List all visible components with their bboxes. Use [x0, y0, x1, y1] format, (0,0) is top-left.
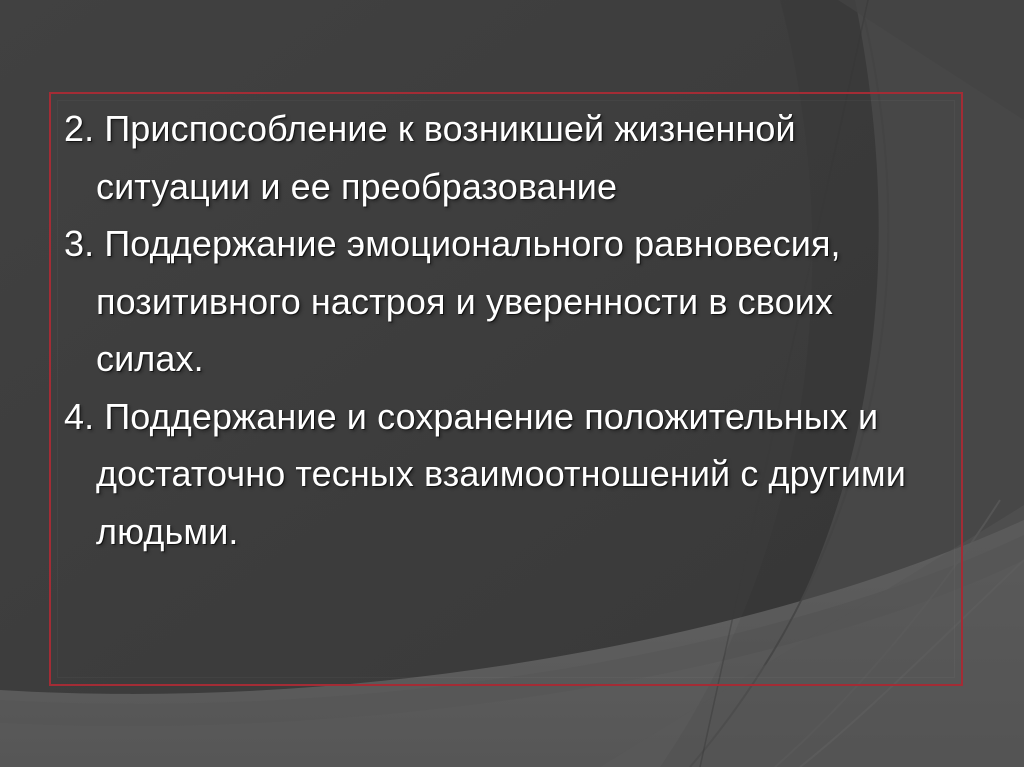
body-paragraph-2: 2. Приспособление к возникшей жизненной … [64, 100, 944, 215]
slide-body-text: 2. Приспособление к возникшей жизненной … [64, 100, 944, 560]
body-paragraph-4: 4. Поддержание и сохранение положительны… [64, 388, 944, 561]
slide-canvas: 2. Приспособление к возникшей жизненной … [0, 0, 1024, 767]
body-paragraph-3: 3. Поддержание эмоционального равновесия… [64, 215, 944, 388]
